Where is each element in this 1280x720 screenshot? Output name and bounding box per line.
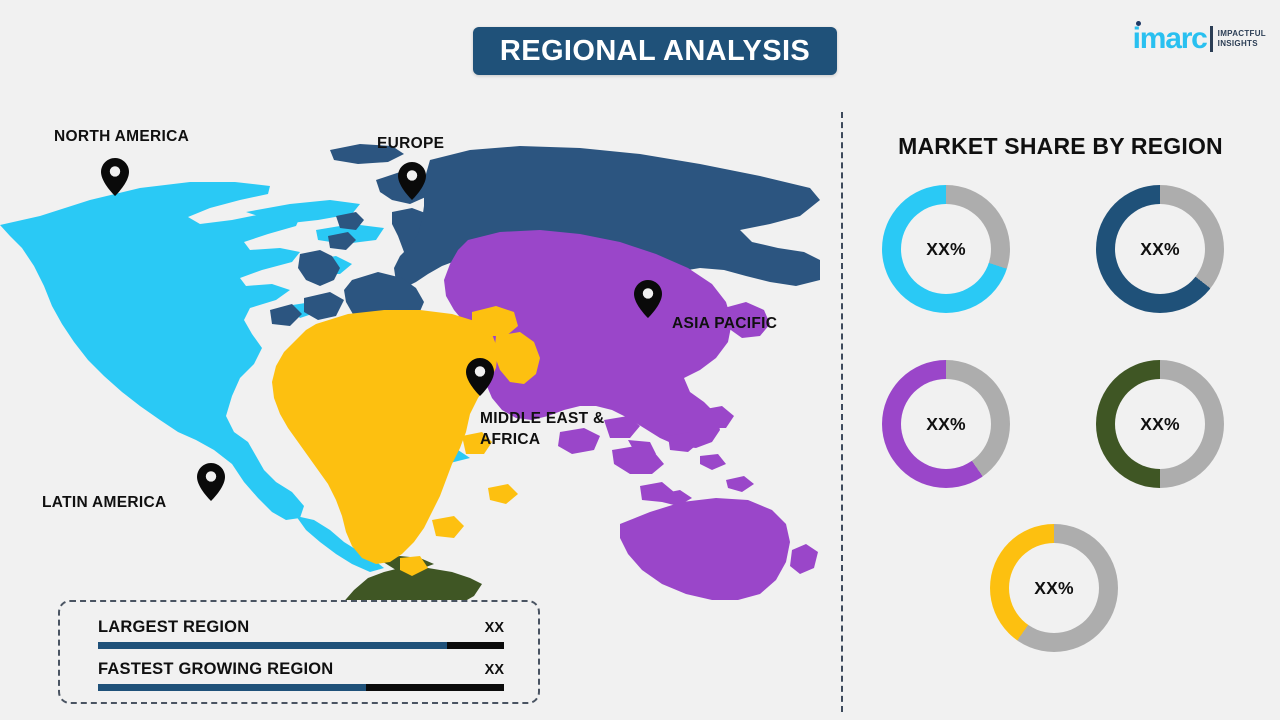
donut-center-europe: XX% [1115, 204, 1205, 294]
legend-value-fastest-growing-region: XX [485, 662, 504, 678]
logo-dot-icon [1136, 21, 1141, 26]
legend-bar-fastest-growing-region [98, 684, 504, 691]
map-label-europe: EUROPE [377, 133, 444, 154]
map-label-asia-pacific: ASIA PACIFIC [672, 313, 777, 334]
market-share-donut-group: XX% XX% XX% XX% XX% [860, 180, 1270, 690]
donut-value-north-america: XX% [926, 239, 966, 260]
donut-value-middle-east-africa: XX% [1034, 578, 1074, 599]
donut-center-north-america: XX% [901, 204, 991, 294]
logo-tagline: IMPACTFUL INSIGHTS [1218, 29, 1266, 49]
map-label-latin-america: LATIN AMERICA [42, 492, 166, 513]
map-label-middle-east-africa: MIDDLE EAST & AFRICA [480, 408, 604, 450]
map-pin-north-america [101, 158, 129, 196]
donut-center-asia-pacific: XX% [901, 379, 991, 469]
market-share-title: MARKET SHARE BY REGION [841, 133, 1280, 160]
logo-wordmark-text: imarc [1133, 22, 1207, 55]
donut-chart-latin-america: XX% [1096, 360, 1224, 488]
imarc-logo: imarc IMPACTFUL INSIGHTS [1133, 22, 1266, 56]
map-label-north-america: NORTH AMERICA [54, 126, 189, 147]
donut-chart-middle-east-africa: XX% [990, 524, 1118, 652]
legend-bar-fill-largest-region [98, 642, 447, 649]
logo-divider [1210, 26, 1213, 52]
legend-row-fastest-growing-region: FASTEST GROWING REGION XX [98, 660, 504, 691]
map-pin-middle-east-africa [466, 358, 494, 396]
donut-center-middle-east-africa: XX% [1009, 543, 1099, 633]
map-pin-europe [398, 162, 426, 200]
page-title-banner: REGIONAL ANALYSIS [473, 27, 837, 75]
donut-chart-asia-pacific: XX% [882, 360, 1010, 488]
legend-bar-fill-fastest-growing-region [98, 684, 366, 691]
donut-center-latin-america: XX% [1115, 379, 1205, 469]
logo-tagline-line-1: IMPACTFUL [1218, 29, 1266, 39]
legend-label-largest-region: LARGEST REGION [98, 618, 249, 637]
region-summary-box: LARGEST REGION XX FASTEST GROWING REGION… [58, 600, 540, 704]
donut-value-asia-pacific: XX% [926, 414, 966, 435]
donut-value-europe: XX% [1140, 239, 1180, 260]
infographic-canvas: REGIONAL ANALYSIS imarc IMPACTFUL INSIGH… [0, 0, 1280, 720]
legend-row-largest-region: LARGEST REGION XX [98, 618, 504, 649]
page-title: REGIONAL ANALYSIS [500, 35, 810, 68]
map-pin-latin-america [197, 463, 225, 501]
donut-chart-europe: XX% [1096, 185, 1224, 313]
section-divider [841, 112, 843, 712]
map-pin-asia-pacific [634, 280, 662, 318]
logo-wordmark: imarc [1133, 24, 1207, 54]
donut-value-latin-america: XX% [1140, 414, 1180, 435]
legend-bar-largest-region [98, 642, 504, 649]
donut-chart-north-america: XX% [882, 185, 1010, 313]
legend-value-largest-region: XX [485, 620, 504, 636]
legend-label-fastest-growing-region: FASTEST GROWING REGION [98, 660, 333, 679]
logo-tagline-line-2: INSIGHTS [1218, 39, 1266, 49]
